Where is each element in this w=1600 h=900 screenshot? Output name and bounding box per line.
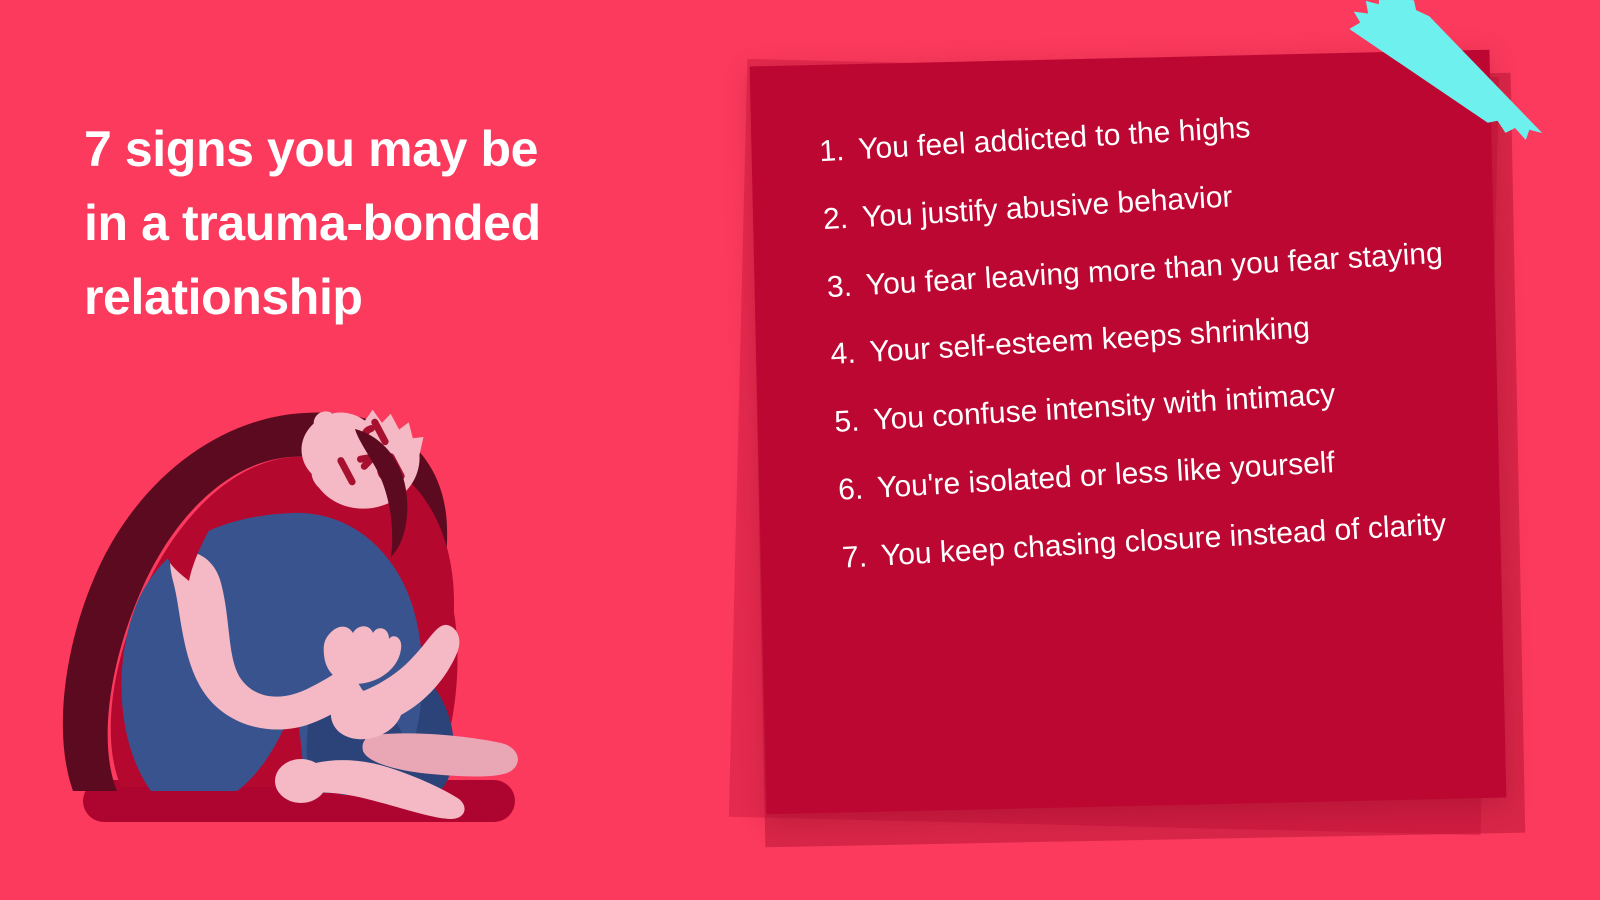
slide-canvas: 7 signs you may be in a trauma-bonded re…	[0, 0, 1600, 900]
list-item-number: 4.	[823, 334, 871, 374]
list-item-label: You fear leaving more than you fear stay…	[865, 233, 1460, 304]
person-illustration-svg	[55, 395, 555, 845]
list-item: 4. Your self-esteem keeps shrinking	[823, 301, 1464, 374]
list-item-number: 1.	[811, 131, 859, 171]
list-item-label: You confuse intensity with intimacy	[872, 369, 1467, 440]
list-item-label: You feel addicted to the highs	[857, 98, 1452, 169]
list-item: 5. You confuse intensity with intimacy	[826, 369, 1467, 442]
list-item-label: Your self-esteem keeps shrinking	[869, 301, 1464, 372]
list-item-label: You justify abusive behavior	[861, 166, 1456, 237]
list-item-number: 2.	[815, 199, 863, 239]
list-item: 2. You justify abusive behavior	[815, 166, 1456, 239]
list-item: 7. You keep chasing closure instead of c…	[834, 504, 1475, 577]
list-item: 1. You feel addicted to the highs	[811, 98, 1452, 171]
page-title: 7 signs you may be in a trauma-bonded re…	[84, 112, 684, 334]
list-item-number: 6.	[830, 470, 878, 510]
list-item-number: 7.	[834, 537, 882, 577]
list-item-label: You're isolated or less like yourself	[876, 436, 1471, 507]
list-card-stack: 1. You feel addicted to the highs 2. You…	[730, 50, 1520, 840]
list-item-number: 3.	[819, 267, 867, 307]
list-item: 3. You fear leaving more than you fear s…	[819, 233, 1460, 306]
list-item-label: You keep chasing closure instead of clar…	[880, 504, 1475, 575]
list-item-number: 5.	[826, 402, 874, 442]
heel	[275, 759, 327, 803]
list-item: 6. You're isolated or less like yourself	[830, 436, 1471, 509]
illustration-person-hugging-knees	[55, 395, 555, 845]
list-card: 1. You feel addicted to the highs 2. You…	[750, 50, 1507, 815]
signs-list: 1. You feel addicted to the highs 2. You…	[811, 98, 1476, 608]
